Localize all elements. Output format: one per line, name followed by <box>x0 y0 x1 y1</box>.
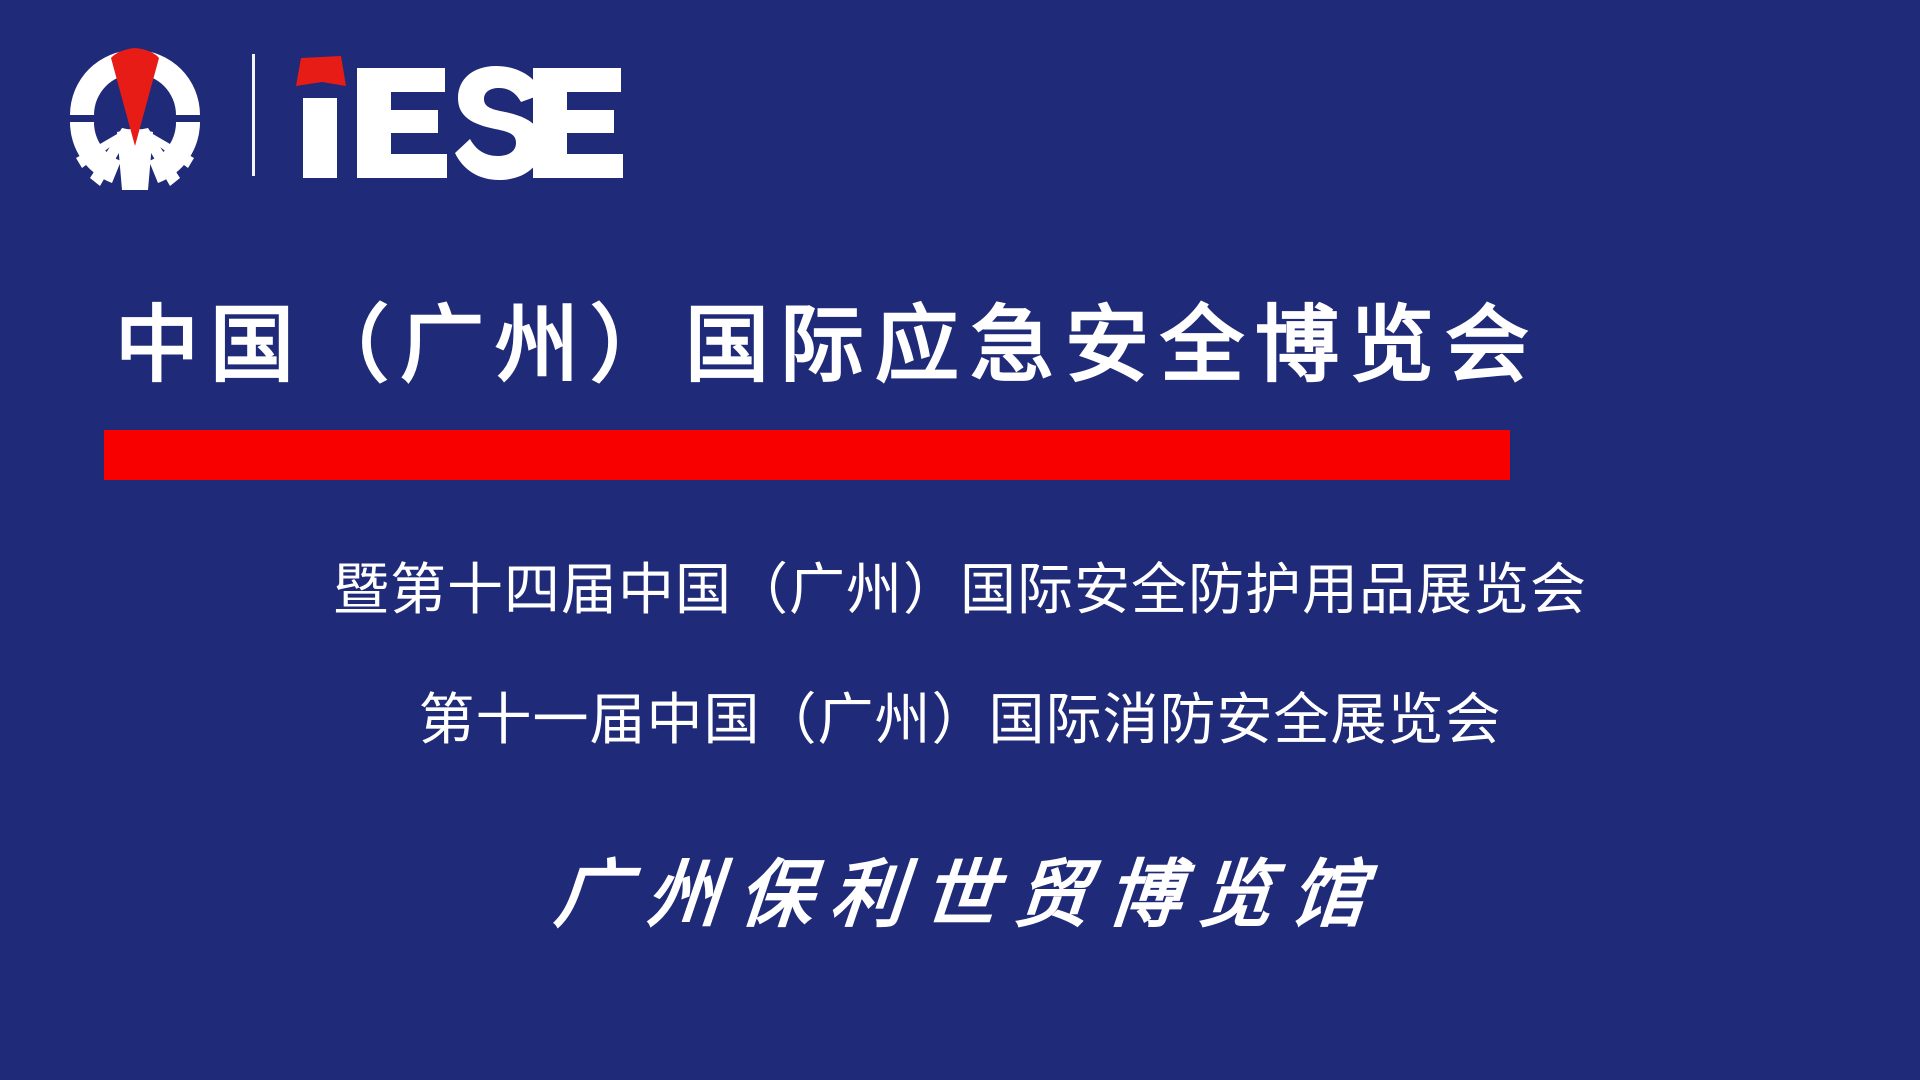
exhibition-banner: 中国（广州）国际应急安全博览会 暨第十四届中国（广州）国际安全防护用品展览会 第… <box>0 0 1920 1080</box>
venue-name: 广州保利世贸博览馆 <box>0 855 1920 936</box>
subtitle-line-2: 第十一届中国（广州）国际消防安全展览会 <box>0 690 1920 752</box>
main-title-block: 中国（广州）国际应急安全博览会 <box>0 278 1920 508</box>
logo-divider <box>252 54 255 176</box>
subtitle-line-1: 暨第十四届中国（广州）国际安全防护用品展览会 <box>0 560 1920 622</box>
logo-lockup[interactable] <box>60 40 625 190</box>
iese-wordmark-icon <box>295 50 625 180</box>
title-underline-bar <box>104 430 1510 480</box>
iese-compass-emblem-icon <box>60 40 210 190</box>
page-title: 中国（广州）国际应急安全博览会 <box>104 300 1510 391</box>
iese-wordmark <box>295 40 625 190</box>
